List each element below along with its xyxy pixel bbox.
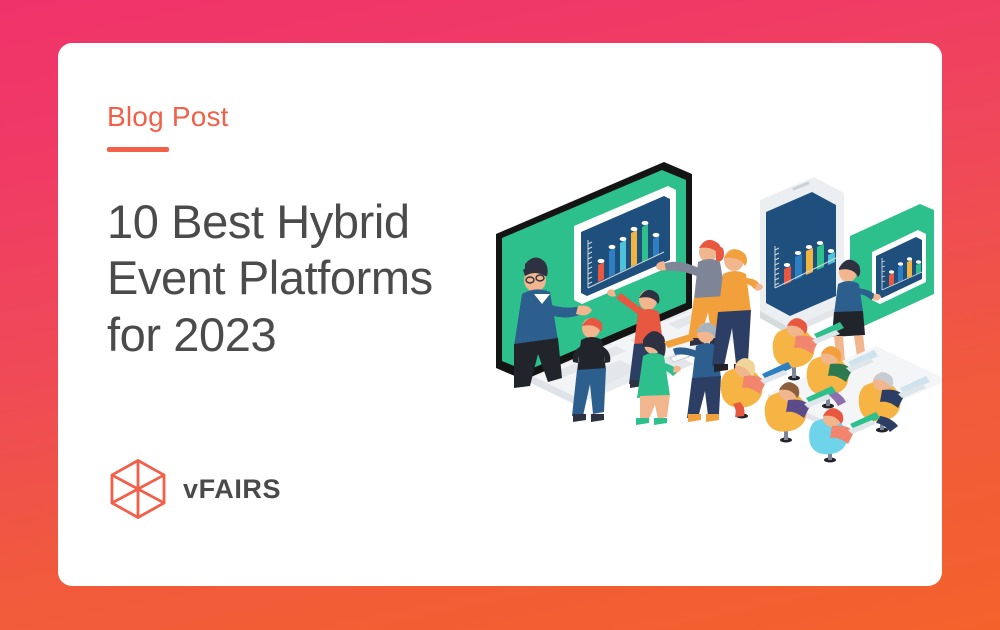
tablet-device xyxy=(760,177,844,335)
isometric-hybrid-event-illustration xyxy=(478,148,942,478)
kicker-label: Blog Post xyxy=(107,103,507,131)
content-card: Blog Post 10 Best Hybrid Event Platforms… xyxy=(58,43,942,586)
text-column: Blog Post 10 Best Hybrid Event Platforms… xyxy=(107,103,507,363)
wall-monitor xyxy=(850,204,934,326)
poster-canvas: Blog Post 10 Best Hybrid Event Platforms… xyxy=(0,0,1000,630)
brand-wordmark: vFAIRS xyxy=(183,476,281,503)
hexagon-cube-icon xyxy=(107,458,169,520)
kicker-underline xyxy=(107,147,169,152)
page-title: 10 Best Hybrid Event Platforms for 2023 xyxy=(107,194,467,363)
brand-logo: vFAIRS xyxy=(107,458,281,520)
